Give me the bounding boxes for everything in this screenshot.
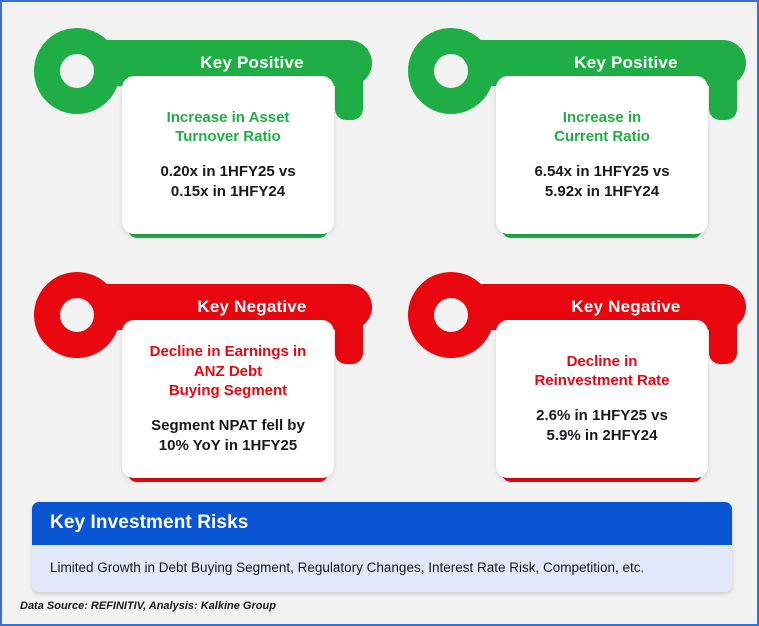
card-headline-line: Decline in <box>567 353 638 370</box>
key-tooth-icon <box>709 316 737 364</box>
key-ring-icon <box>408 272 494 358</box>
card-detail-line: 5.9% in 2HFY24 <box>547 427 658 444</box>
key-tooth-icon <box>335 316 363 364</box>
risks-body: Limited Growth in Debt Buying Segment, R… <box>32 545 732 592</box>
card-detail-line: 0.15x in 1HFY24 <box>171 183 285 200</box>
card-headline: Decline in Earnings in ANZ Debt Buying S… <box>150 342 307 400</box>
card-badge-label: Key Negative <box>571 297 680 317</box>
key-card-current-ratio: Key Positive Increase in Current Ratio 6… <box>398 14 754 246</box>
card-headline-line: Turnover Ratio <box>175 128 281 145</box>
key-card-reinvestment-rate: Key Negative Decline in Reinvestment Rat… <box>398 258 754 490</box>
card-content: Increase in Asset Turnover Ratio 0.20x i… <box>122 76 334 234</box>
card-detail: 0.20x in 1HFY25 vs 0.15x in 1HFY24 <box>160 162 295 202</box>
card-detail-line: 0.20x in 1HFY25 vs <box>160 163 295 180</box>
risks-text: Limited Growth in Debt Buying Segment, R… <box>50 560 644 575</box>
footer-source-note: Data Source: REFINITIV, Analysis: Kalkin… <box>20 600 276 612</box>
card-headline-line: Decline in Earnings in <box>150 343 307 360</box>
key-ring-icon <box>34 28 120 114</box>
card-badge-label: Key Positive <box>574 53 678 73</box>
risks-title: Key Investment Risks <box>50 512 248 533</box>
card-badge-label: Key Negative <box>197 297 306 317</box>
card-headline: Increase in Asset Turnover Ratio <box>167 108 290 146</box>
key-card-anz-debt-buying-earnings: Key Negative Decline in Earnings in ANZ … <box>24 258 380 490</box>
card-detail-line: 6.54x in 1HFY25 vs <box>534 163 669 180</box>
card-detail-line: 5.92x in 1HFY24 <box>545 183 659 200</box>
card-detail: Segment NPAT fell by 10% YoY in 1HFY25 <box>151 416 305 456</box>
key-ring-icon <box>408 28 494 114</box>
card-detail-line: 10% YoY in 1HFY25 <box>159 437 297 454</box>
card-headline-line: Increase in Asset <box>167 109 290 126</box>
card-headline: Decline in Reinvestment Rate <box>534 352 669 390</box>
card-detail: 6.54x in 1HFY25 vs 5.92x in 1HFY24 <box>534 162 669 202</box>
card-content: Decline in Reinvestment Rate 2.6% in 1HF… <box>496 320 708 478</box>
key-tooth-icon <box>709 72 737 120</box>
key-investment-risks-banner: Key Investment Risks Limited Growth in D… <box>32 502 732 592</box>
card-detail: 2.6% in 1HFY25 vs 5.9% in 2HFY24 <box>536 406 668 446</box>
card-headline-line: ANZ Debt <box>194 363 262 380</box>
infographic-page: Key Positive Increase in Asset Turnover … <box>0 0 759 626</box>
key-ring-icon <box>34 272 120 358</box>
card-content: Decline in Earnings in ANZ Debt Buying S… <box>122 320 334 478</box>
card-content: Increase in Current Ratio 6.54x in 1HFY2… <box>496 76 708 234</box>
card-headline-line: Reinvestment Rate <box>534 372 669 389</box>
card-headline-line: Buying Segment <box>169 382 287 399</box>
card-headline-line: Current Ratio <box>554 128 650 145</box>
card-headline: Increase in Current Ratio <box>554 108 650 146</box>
card-detail-line: Segment NPAT fell by <box>151 417 305 434</box>
key-card-asset-turnover-ratio: Key Positive Increase in Asset Turnover … <box>24 14 380 246</box>
card-headline-line: Increase in <box>563 109 641 126</box>
card-badge-label: Key Positive <box>200 53 304 73</box>
risks-header: Key Investment Risks <box>32 502 732 545</box>
card-detail-line: 2.6% in 1HFY25 vs <box>536 407 668 424</box>
key-tooth-icon <box>335 72 363 120</box>
